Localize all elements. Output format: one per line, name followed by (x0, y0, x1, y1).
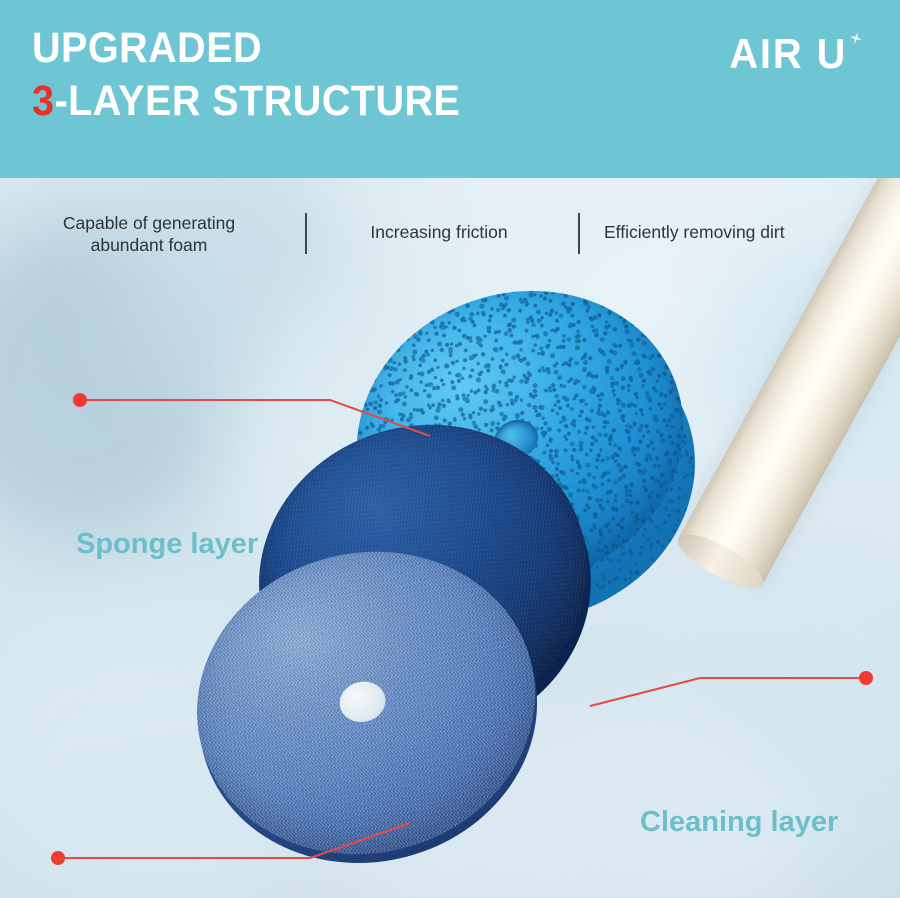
feature-divider (305, 213, 307, 254)
title-line-2: 3-LAYER STRUCTURE (32, 80, 460, 124)
brand-logo[interactable]: AIR U (723, 33, 864, 87)
feature-bar: Capable of generating abundant foam Incr… (0, 178, 900, 278)
infographic-root: UPGRADED 3-LAYER STRUCTURE AIR U (0, 0, 900, 898)
header-banner: UPGRADED 3-LAYER STRUCTURE AIR U (0, 0, 900, 178)
feature-divider (578, 213, 580, 254)
callout-label-cleaning-layer: Cleaning layer (640, 806, 838, 839)
feature-item-dirt: Efficiently removing dirt (604, 221, 876, 243)
product-photo-scene: Capable of generating abundant foam Incr… (0, 178, 900, 898)
title-line-1: UPGRADED (32, 27, 460, 71)
title-accent-number: 3 (32, 77, 54, 125)
scrubbing-cloth-disc (165, 516, 567, 889)
feature-item-foam: Capable of generating abundant foam (24, 212, 274, 257)
title-line-2-rest: -LAYER STRUCTURE (54, 77, 460, 125)
page-title: UPGRADED 3-LAYER STRUCTURE (32, 27, 498, 124)
brand-logo-text: AIR U (729, 33, 847, 75)
feature-item-friction: Increasing friction (330, 221, 548, 243)
callout-label-sponge-layer: Sponge layer (76, 528, 258, 561)
sparkle-plus-icon (848, 31, 864, 47)
